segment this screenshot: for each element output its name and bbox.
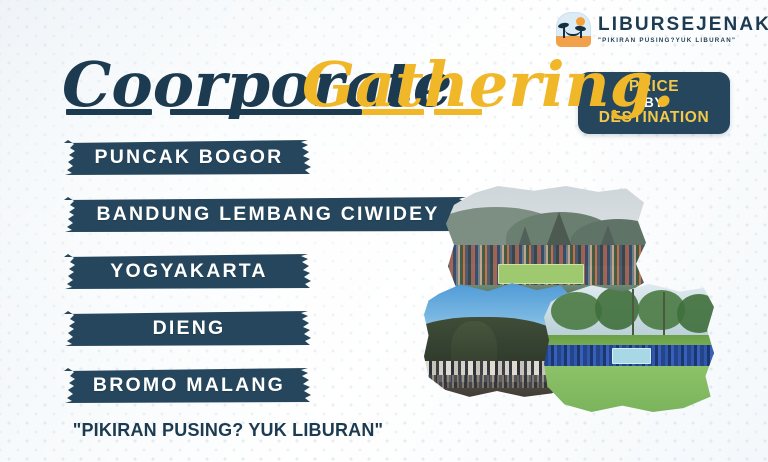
brand-tagline: "PIKIRAN PUSING?YUK LIBURAN" <box>598 38 768 44</box>
sun-shape <box>576 17 585 26</box>
brand-logo[interactable]: LIBURSEJENAK "PIKIRAN PUSING?YUK LIBURAN… <box>556 12 768 47</box>
sand-shape <box>556 36 591 47</box>
hammock-shape <box>565 29 581 36</box>
photo-group-temple-dieng[interactable] <box>446 186 646 304</box>
beach-hammock-icon <box>556 12 591 47</box>
photo-content <box>446 186 646 304</box>
poster-canvas: LIBURSEJENAK "PIKIRAN PUSING?YUK LIBURAN… <box>0 0 768 462</box>
destination-label: PUNCAK BOGOR <box>95 146 284 169</box>
brand-logo-text: LIBURSEJENAK "PIKIRAN PUSING?YUK LIBURAN… <box>598 15 768 44</box>
underline-segment-navy <box>170 109 362 115</box>
underline-segment-navy <box>66 109 152 115</box>
destination-banner-puncak-bogor[interactable]: PUNCAK BOGOR <box>58 139 320 176</box>
underline-segment-gold <box>362 109 424 115</box>
destination-banner-dieng[interactable]: DIENG <box>58 310 320 347</box>
destination-label: YOGYAKARTA <box>110 260 267 283</box>
photo-group-field[interactable] <box>544 284 714 412</box>
destination-banner-bromo-malang[interactable]: BROMO MALANG <box>58 367 320 404</box>
photo-collage <box>424 186 768 430</box>
destination-banner-yogyakarta[interactable]: YOGYAKARTA <box>58 253 320 290</box>
slogan-text: "PIKIRAN PUSING? YUK LIBURAN" <box>58 420 398 441</box>
brand-name: LIBURSEJENAK <box>598 15 768 34</box>
headline-underline <box>62 109 482 116</box>
destination-label: DIENG <box>153 317 226 340</box>
underline-segment-gold <box>434 109 482 115</box>
destination-label: BROMO MALANG <box>93 374 285 397</box>
destination-banner-bandung-lembang-ciwidey[interactable]: BANDUNG LEMBANG CIWIDEY <box>58 196 478 233</box>
photo-content <box>544 284 714 412</box>
destination-label: BANDUNG LEMBANG CIWIDEY <box>96 203 439 226</box>
